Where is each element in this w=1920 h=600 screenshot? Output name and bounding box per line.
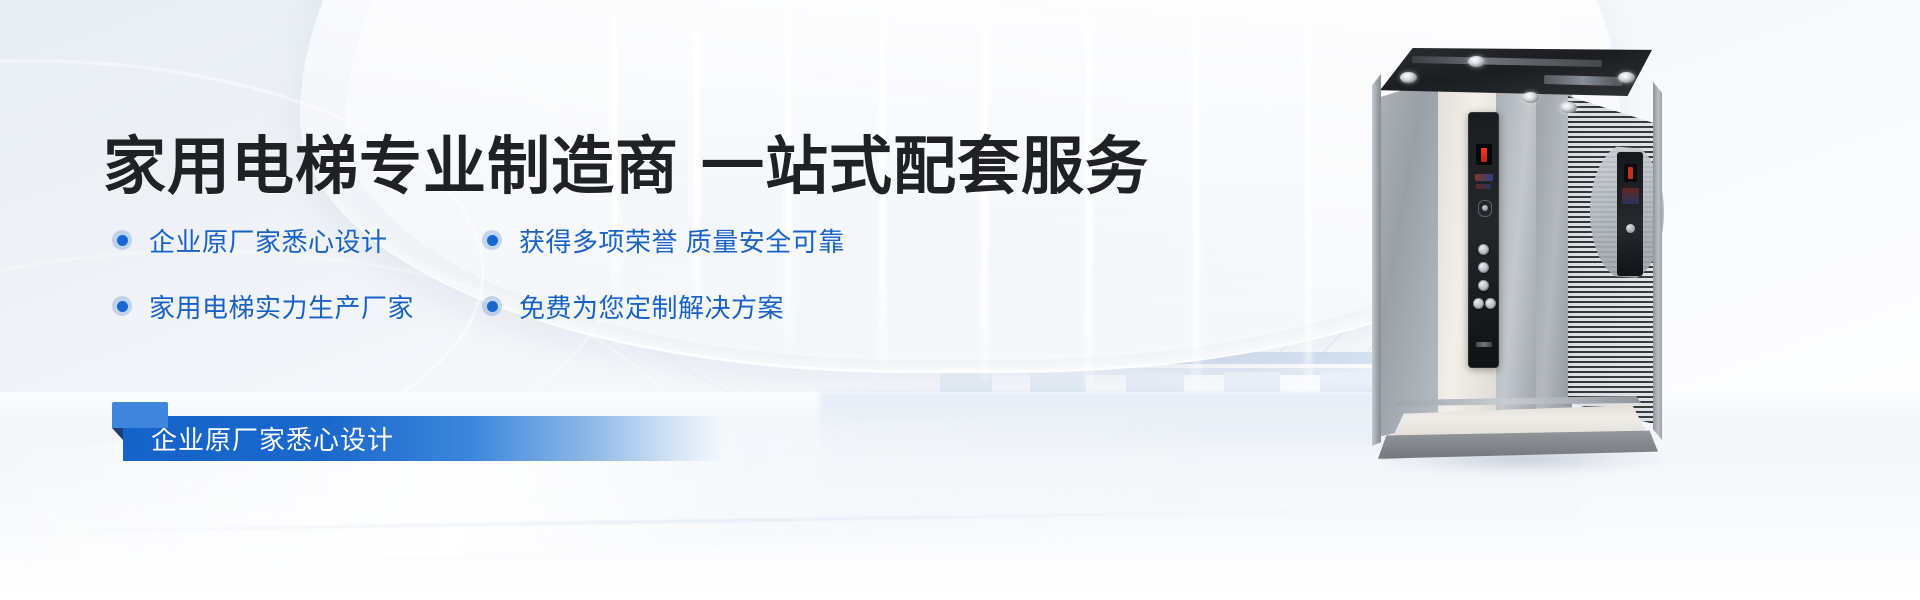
elevator-panel-grey-2 <box>1536 84 1572 424</box>
ceiling-spotlight-icon <box>1522 92 1539 103</box>
ribbon-label: 企业原厂家悉心设计 <box>151 420 394 457</box>
ceiling-spotlight-icon <box>1468 56 1485 67</box>
floor-button[interactable] <box>1478 244 1489 255</box>
elevator-frame-post-right <box>1653 82 1662 440</box>
home-elevator-product-image <box>1372 48 1662 468</box>
feature-label: 免费为您定制解决方案 <box>519 288 784 325</box>
feature-item-3: 家用电梯实力生产厂家 <box>112 273 482 339</box>
bullet-dot-icon <box>112 230 132 250</box>
ceiling-spotlight-icon <box>1618 72 1635 83</box>
control-panel-footer-label <box>1476 342 1492 347</box>
floor-button[interactable] <box>1478 262 1489 273</box>
ceiling-spotlight-icon <box>1400 72 1417 83</box>
door-close-button[interactable] <box>1485 298 1496 309</box>
ribbon-fold-corner-icon <box>112 428 123 440</box>
feature-list: 企业原厂家悉心设计 获得多项荣誉 质量安全可靠 家用电梯实力生产厂家 免费为您定… <box>112 207 972 339</box>
ceiling-spotlight-icon <box>1560 102 1577 113</box>
feature-row: 家用电梯实力生产厂家 免费为您定制解决方案 <box>112 273 972 339</box>
elevator-panel-grey <box>1496 86 1536 424</box>
banner-content: 家用电梯专业制造商一站式配套服务 企业原厂家悉心设计 获得多项荣誉 质量安全可靠… <box>0 0 1100 600</box>
elevator-frame-post-left <box>1372 74 1381 446</box>
feature-row: 企业原厂家悉心设计 获得多项荣誉 质量安全可靠 <box>112 207 972 273</box>
door-open-button[interactable] <box>1473 298 1484 309</box>
control-panel-brand-subtext <box>1476 184 1491 189</box>
ribbon-bar: 企业原厂家悉心设计 <box>123 416 723 461</box>
feature-item-4: 免费为您定制解决方案 <box>482 273 952 339</box>
control-panel-brand-mark <box>1475 174 1493 181</box>
elevator-mirror-button <box>1626 224 1635 233</box>
feature-label: 企业原厂家悉心设计 <box>149 222 388 259</box>
ribbon-tab-accent <box>112 402 168 428</box>
elevator-left-wall <box>1372 78 1442 438</box>
feature-item-1: 企业原厂家悉心设计 <box>112 207 482 273</box>
bullet-dot-icon <box>482 296 502 316</box>
page-title: 家用电梯专业制造商一站式配套服务 <box>103 116 1149 207</box>
feature-item-2: 获得多项荣誉 质量安全可靠 <box>482 207 952 273</box>
floor-button[interactable] <box>1478 280 1489 291</box>
ribbon-tag[interactable]: 企业原厂家悉心设计 <box>112 402 752 456</box>
floor-indicator-display <box>1476 144 1492 165</box>
control-panel-keyswitch[interactable] <box>1478 200 1492 217</box>
bullet-dot-icon <box>482 230 502 250</box>
feature-label: 获得多项荣誉 质量安全可靠 <box>519 222 845 259</box>
elevator-mirror-floor-display <box>1624 164 1637 182</box>
elevator-ceiling <box>1380 48 1652 96</box>
headline-part-1: 家用电梯专业制造商 <box>103 132 679 202</box>
home-elevator-promo-banner: 家用电梯专业制造商一站式配套服务 企业原厂家悉心设计 获得多项荣誉 质量安全可靠… <box>0 0 1920 600</box>
elevator-mirror-brand-badge <box>1622 188 1639 204</box>
feature-label: 家用电梯实力生产厂家 <box>149 288 414 325</box>
bullet-dot-icon <box>112 296 132 316</box>
headline-part-2: 一站式配套服务 <box>701 132 1149 202</box>
